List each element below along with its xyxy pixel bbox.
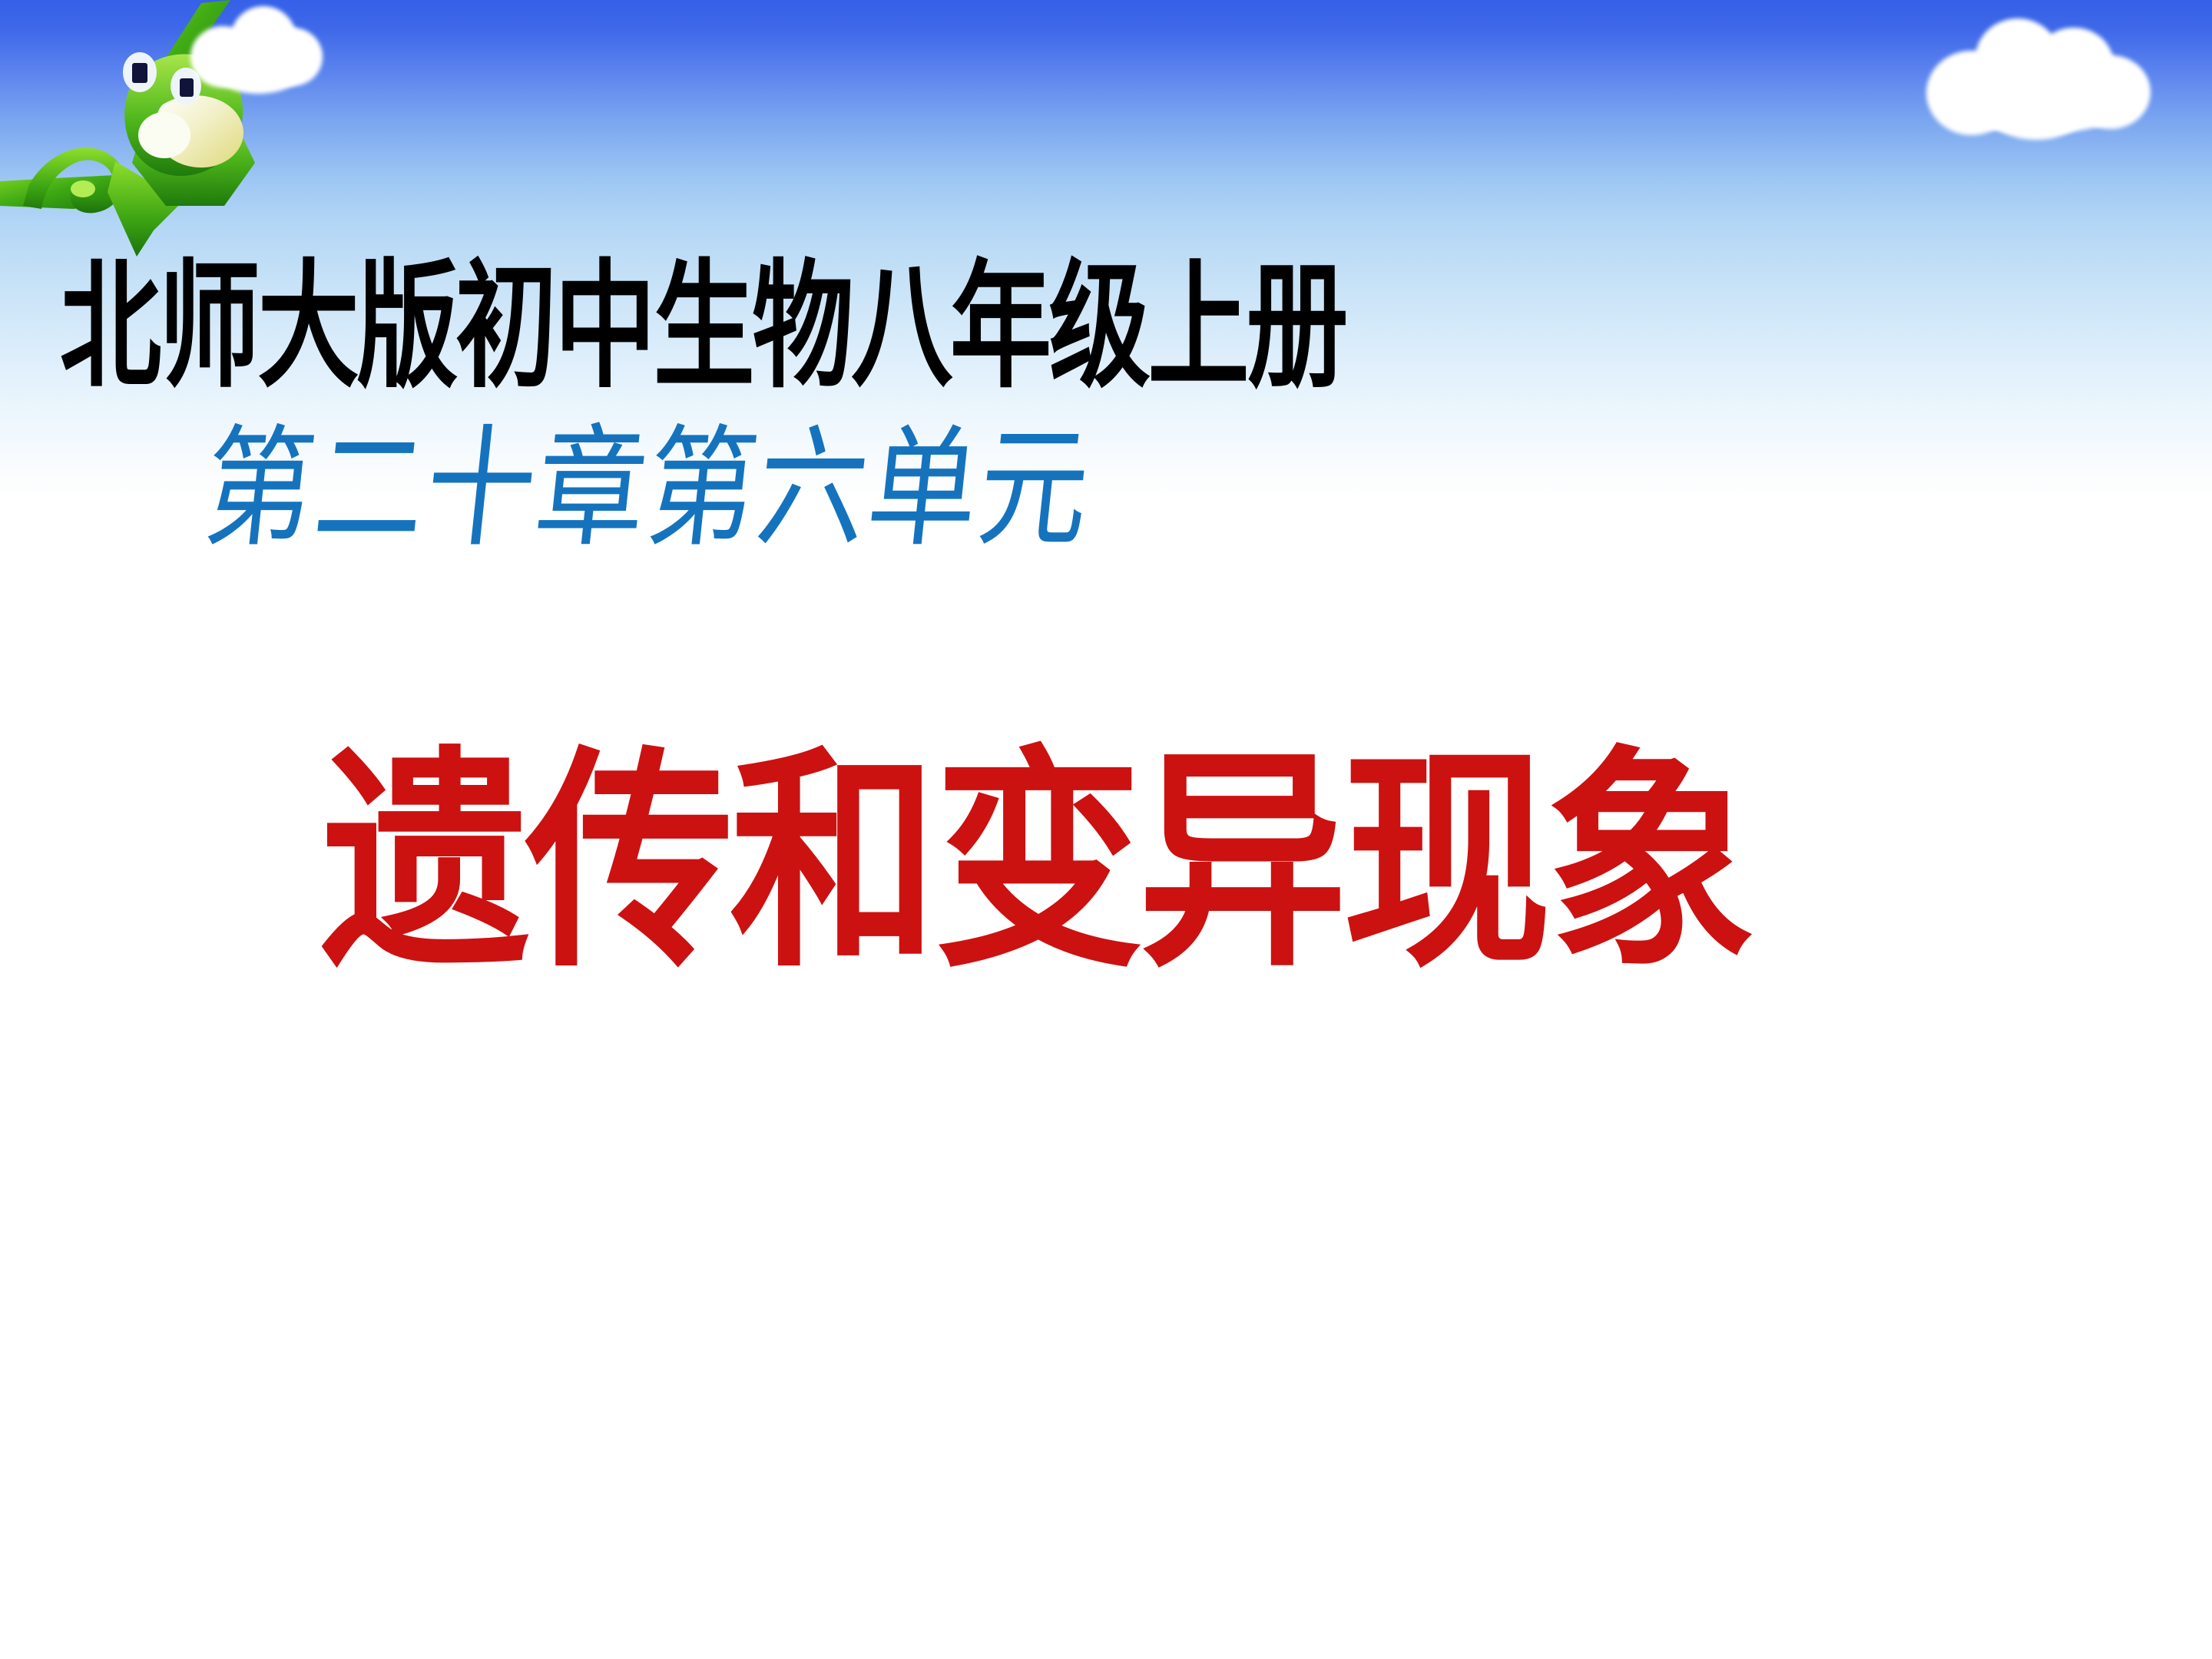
slide-canvas: 北师大版初中生物八年级上册 第二十章第六单元 遗传和变异现象 xyxy=(0,0,2212,1659)
main-title: 遗传和变异现象 xyxy=(321,747,1751,981)
unit-chapter-line: 第二十章第六单元 xyxy=(198,424,1097,555)
slide-text-block: 北师大版初中生物八年级上册 第二十章第六单元 遗传和变异现象 xyxy=(0,0,2212,1659)
textbook-edition-line: 北师大版初中生物八年级上册 xyxy=(60,258,1346,396)
